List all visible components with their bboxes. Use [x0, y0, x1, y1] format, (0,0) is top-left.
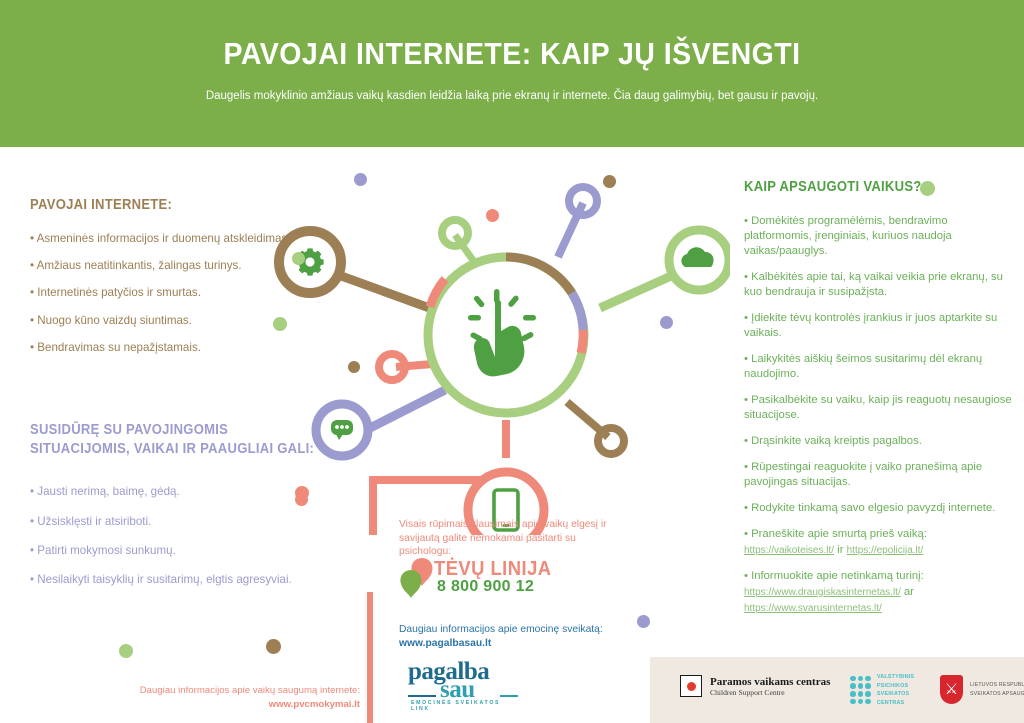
- list-item-with-links: • Informuokite apie netinkamą turinį: ht…: [744, 569, 1016, 616]
- situations-heading: SUSIDŪRĘ SU PAVOJINGOMIS SITUACIJOMIS, V…: [30, 421, 327, 458]
- tevu-linija-phone: 8 800 900 12: [437, 578, 534, 596]
- pvc-credit-text: Daugiau informacijos apie vaikų saugumą …: [140, 685, 360, 696]
- pagalba-tagline: EMOCINĖS SVEIKATOS LINK: [411, 700, 518, 712]
- lithuania-coat-of-arms-icon: ⚔: [940, 675, 963, 704]
- decor-dot: [660, 316, 673, 329]
- decor-dot: [354, 173, 367, 186]
- infographic-page: PAVOJAI INTERNETE: KAIP JŲ IŠVENGTI Daug…: [0, 0, 1024, 723]
- protect-list: • Domėkitės programėlėmis, bendravimo pl…: [744, 214, 1016, 616]
- situations-section: SUSIDŪRĘ SU PAVOJINGOMIS SITUACIJOMIS, V…: [30, 421, 360, 602]
- node-ring-bottomright: [598, 428, 624, 454]
- partner-pvc-name-lt: Paramos vaikams centras: [710, 676, 830, 688]
- link-separator: ir: [834, 544, 847, 556]
- dangers-section: PAVOJAI INTERNETE: • Asmeninės informaci…: [30, 196, 330, 368]
- list-item: • Asmeninės informacijos ir duomenų atsk…: [30, 231, 330, 247]
- decor-dot: [637, 615, 650, 628]
- list-item: • Internetinės patyčios ir smurtas.: [30, 285, 330, 301]
- red-dot-mark-icon: [680, 675, 702, 697]
- emotional-note-text: Daugiau informacijos apie emocinę sveika…: [399, 624, 603, 635]
- link-epolicija[interactable]: https://epolicija.lt/: [847, 545, 924, 556]
- pvcmokymai-url[interactable]: www.pvcmokymai.lt: [269, 699, 360, 710]
- node-ring-left: [379, 354, 405, 380]
- link-svarusinternetas[interactable]: https://www.svarusinternetas.lt/: [744, 603, 882, 614]
- header-banner: PAVOJAI INTERNETE: KAIP JŲ IŠVENGTI Daug…: [0, 0, 1024, 147]
- connector-chat: [370, 390, 445, 428]
- node-ring-topleft: [442, 220, 468, 246]
- list-item: • Patirti mokymosi sunkumų.: [30, 543, 360, 559]
- decor-dot: [603, 175, 616, 188]
- decor-dot: [119, 644, 133, 658]
- link-line: https://www.svarusinternetas.lt/: [744, 601, 1016, 616]
- list-item: • Drąsinkite vaiką kreiptis pagalbos.: [744, 434, 1016, 449]
- list-item: • Amžiaus neatitinkantis, žalingas turin…: [30, 258, 330, 274]
- list-item: • Pasikalbėkite su vaiku, kaip jis reagu…: [744, 393, 1016, 423]
- list-item: • Rodykite tinkamą savo elgesio pavyzdį …: [744, 501, 1016, 516]
- salmon-divider-bar: [367, 592, 373, 723]
- partner-sam: ⚔ LIETUVOS RESPUBLIKOSSVEIKATOS APSAUGOS…: [940, 675, 1024, 704]
- psychologist-note: Visais rūpimais klausimais apie vaikų el…: [399, 518, 614, 559]
- list-item-text: • Praneškite apie smurtą prieš vaiką:: [744, 528, 927, 540]
- pvc-credit: Daugiau informacijos apie vaikų saugumą …: [64, 684, 360, 712]
- list-item-with-links: • Praneškite apie smurtą prieš vaiką: ht…: [744, 527, 1016, 558]
- emotional-health-note: Daugiau informacijos apie emocinę sveika…: [399, 623, 609, 651]
- link-separator: ar: [901, 586, 914, 598]
- list-item: • Bendravimas su nepažįstamais.: [30, 340, 330, 356]
- protect-section: KAIP APSAUGOTI VAIKUS? • Domėkitės progr…: [744, 178, 1016, 627]
- list-item: • Domėkitės programėlėmis, bendravimo pl…: [744, 214, 1016, 259]
- list-item-text: • Informuokite apie netinkamą turinį:: [744, 570, 924, 582]
- list-item: • Jausti nerimą, baimę, gėdą.: [30, 484, 360, 500]
- page-subtitle: Daugelis mokyklinio amžiaus vaikų kasdie…: [0, 90, 1024, 102]
- center-arc-salmon: [581, 330, 583, 353]
- tevu-linija-mark-icon: [398, 556, 438, 600]
- list-item: • Laikykitės aiškių šeimos susitarimų dė…: [744, 352, 1016, 382]
- list-item: • Įdiekite tėvų kontrolės įrankius ir ju…: [744, 311, 1016, 341]
- situations-list: • Jausti nerimą, baimę, gėdą. • Užsisklę…: [30, 484, 360, 589]
- decor-dot: [348, 361, 360, 373]
- list-item: • Užsisklęsti ir atsiriboti.: [30, 514, 360, 530]
- pagalba-sau-logo: pagalba sau EMOCINĖS SVEIKATOS LINK: [408, 658, 518, 706]
- dot-grid-icon: [850, 676, 871, 705]
- red-dot: [687, 682, 696, 691]
- list-item: • Kalbėkitės apie tai, ką vaikai veikia …: [744, 270, 1016, 300]
- partner-logos-bar: Paramos vaikams centras Children Support…: [650, 657, 1024, 723]
- link-line: https://vaikoteises.lt/ ir https://epoli…: [744, 543, 1016, 558]
- link-line: https://www.draugiskasinternetas.lt/ ar: [744, 585, 1016, 600]
- partner-pvc-name-en: Children Support Centre: [710, 688, 830, 697]
- tevu-linija-logo: TĖVŲ LINIJA 8 800 900 12: [398, 556, 558, 602]
- pagalbasau-url[interactable]: www.pagalbasau.lt: [399, 638, 491, 649]
- partner-vpsc-name: VALSTYBINISPSICHIKOSSVEIKATOSCENTRAS: [877, 673, 914, 707]
- decor-dot: [266, 639, 281, 654]
- decor-dot: [486, 209, 499, 222]
- partner-pvc: Paramos vaikams centras Children Support…: [680, 675, 830, 697]
- partner-sam-name: LIETUVOS RESPUBLIKOSSVEIKATOS APSAUGOS M…: [970, 681, 1024, 698]
- connector-gear: [333, 273, 435, 310]
- logo-rule-left: [408, 695, 436, 697]
- dangers-heading: PAVOJAI INTERNETE:: [30, 196, 300, 215]
- logo-rule-right: [500, 695, 518, 697]
- list-item: • Nuogo kūno vaizdų siuntimas.: [30, 313, 330, 329]
- dangers-list: • Asmeninės informacijos ir duomenų atsk…: [30, 231, 330, 357]
- page-title: PAVOJAI INTERNETE: KAIP JŲ IŠVENGTI: [41, 36, 983, 72]
- link-draugiskasinternetas[interactable]: https://www.draugiskasinternetas.lt/: [744, 587, 901, 598]
- protect-heading: KAIP APSAUGOTI VAIKUS?: [744, 178, 989, 197]
- list-item: • Rūpestingai reaguokite į vaiko praneši…: [744, 460, 1016, 490]
- partner-vpsc: VALSTYBINISPSICHIKOSSVEIKATOSCENTRAS: [850, 673, 914, 707]
- link-vaikoteises[interactable]: https://vaikoteises.lt/: [744, 545, 834, 556]
- list-item: • Nesilaikyti taisyklių ir susitarimų, e…: [30, 572, 360, 588]
